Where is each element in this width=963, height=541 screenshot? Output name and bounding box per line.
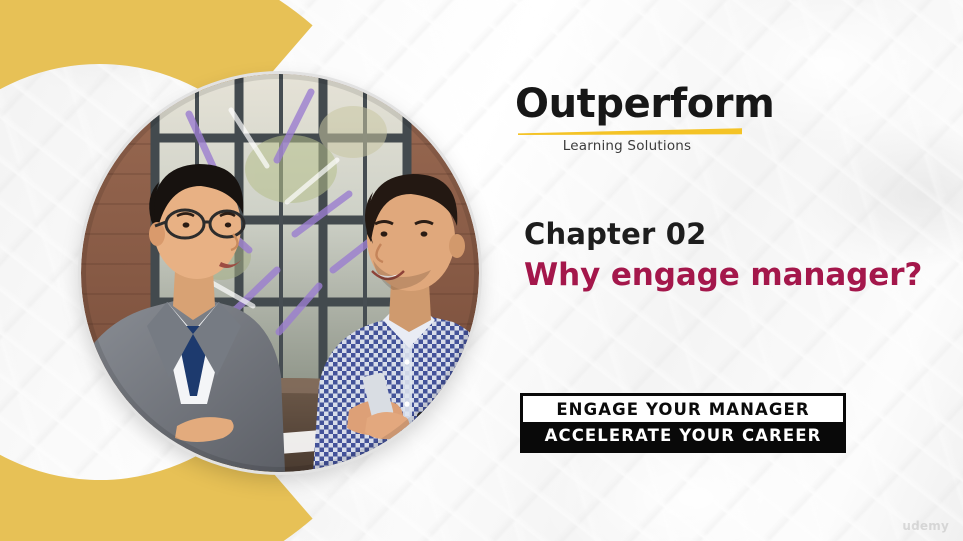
banner-line-engage: ENGAGE YOUR MANAGER	[523, 396, 843, 422]
logo-underline-wedge-icon	[518, 127, 742, 135]
chapter-number-label: Chapter 02	[524, 218, 924, 252]
udemy-watermark: udemy	[902, 519, 949, 533]
logo-underline	[518, 127, 742, 134]
tagline-banner: ENGAGE YOUR MANAGER ACCELERATE YOUR CARE…	[520, 393, 846, 453]
banner-line-accelerate: ACCELERATE YOUR CAREER	[523, 422, 843, 450]
logo-tagline: Learning Solutions	[515, 138, 739, 154]
brand-logo: Outperform Learning Solutions	[515, 84, 865, 154]
chapter-heading: Chapter 02 Why engage manager?	[524, 218, 924, 292]
logo-wordmark: Outperform	[515, 84, 865, 125]
chapter-title: Why engage manager?	[524, 258, 924, 293]
hero-photo	[81, 74, 479, 472]
conversation-photo-illustration	[81, 74, 479, 472]
presentation-slide: Outperform Learning Solutions Chapter 02…	[0, 0, 963, 541]
